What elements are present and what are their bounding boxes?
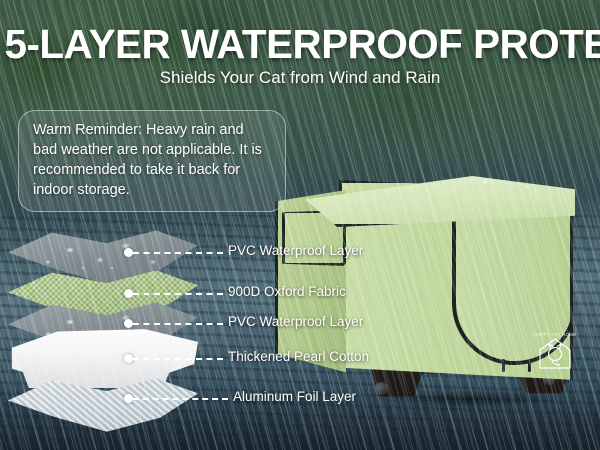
layer-connector-line	[133, 252, 223, 254]
layer-connector-line	[133, 398, 228, 400]
zipper-pull-icon	[528, 359, 531, 372]
layer-swatch-5	[8, 376, 198, 434]
material-layers-diagram	[8, 228, 238, 413]
layer-label-4: Thickened Pearl Cotton	[228, 349, 369, 364]
layer-connector-dot	[124, 248, 133, 257]
product-wheel	[375, 382, 388, 395]
layer-connector-dot	[124, 354, 133, 363]
layer-connector-dot	[124, 319, 133, 328]
brand-logo: HAPPY CAT HOME	[533, 332, 577, 374]
product-feature-banner: HAPPY CAT HOME PVC Waterproof Layer 900D…	[0, 0, 600, 450]
warm-reminder-box: Warm Reminder: Heavy rain and bad weathe…	[18, 110, 286, 212]
layer-label-2: 900D Oxford Fabric	[228, 284, 346, 299]
layer-connector-line	[133, 323, 223, 325]
house-cat-icon	[533, 332, 577, 374]
page-subtitle: Shields Your Cat from Wind and Rain	[0, 68, 600, 88]
zipper-pull-icon	[502, 359, 505, 372]
layer-label-3: PVC Waterproof Layer	[228, 314, 363, 329]
layer-label-5: Aluminum Foil Layer	[233, 389, 356, 404]
layer-label-1: PVC Waterproof Layer	[228, 243, 363, 258]
layer-connector-dot	[124, 289, 133, 298]
page-title: 5-LAYER WATERPROOF PROTECTION	[5, 22, 596, 66]
layer-connector-line	[133, 293, 223, 295]
layer-connector-line	[133, 358, 223, 360]
water-splash	[465, 174, 595, 194]
brand-logo-text: HAPPY CAT HOME	[533, 332, 577, 337]
layer-connector-dot	[124, 394, 133, 403]
